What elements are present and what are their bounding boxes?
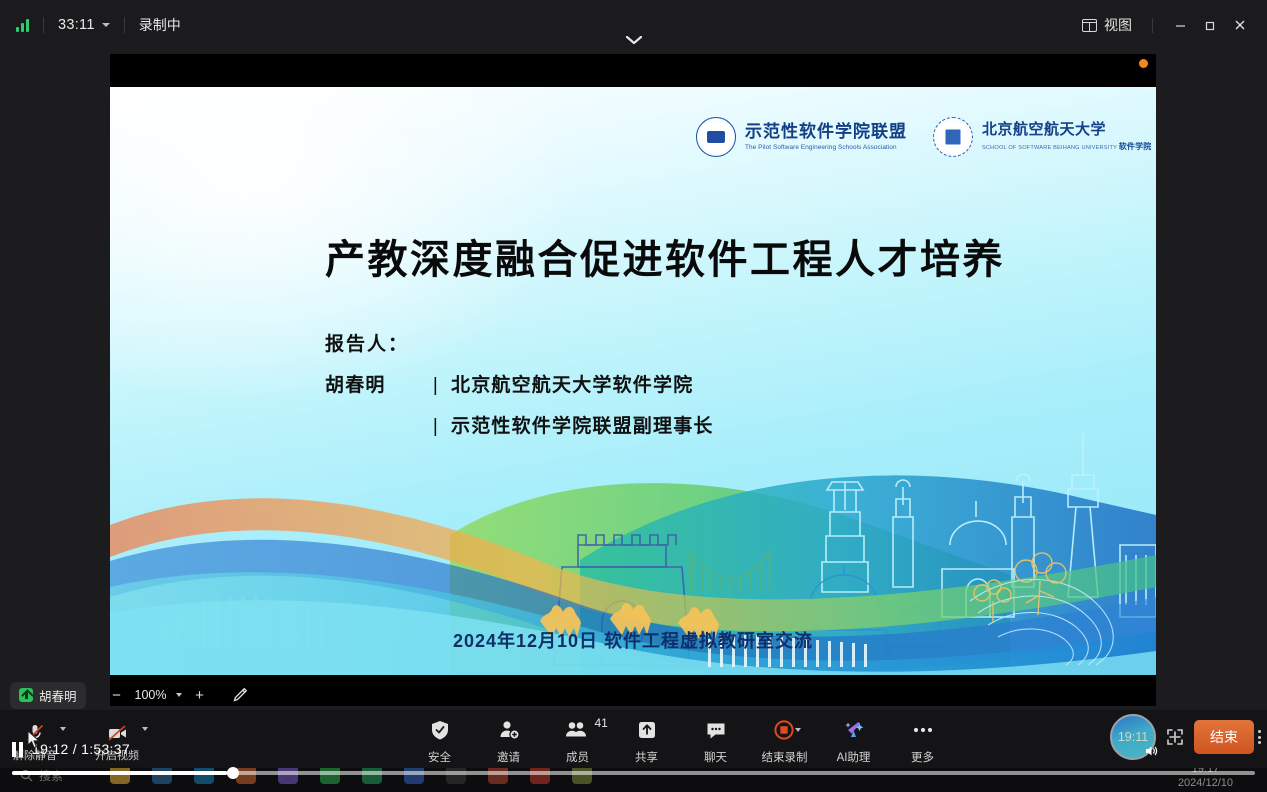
- chevron-down-icon[interactable]: [60, 727, 66, 731]
- player-time: 19:12 / 1:53:37: [32, 741, 130, 757]
- zoom-out-button[interactable]: −: [108, 686, 126, 704]
- university-name-en: SCHOOL OF SOFTWARE BEIHANG UNIVERSITY 软件…: [982, 141, 1152, 152]
- slide-footer: 2024年12月10日 软件工程虚拟教研室交流: [110, 627, 1156, 653]
- mouse-cursor: [27, 730, 41, 750]
- titlebar-right-group: 视图: [1074, 10, 1267, 40]
- divider: [124, 17, 125, 33]
- zoom-in-button[interactable]: +: [191, 686, 209, 704]
- recording-dot-icon: [1139, 59, 1148, 68]
- share-owner-name: 胡春明: [39, 686, 77, 705]
- screen-share-icon: [19, 688, 33, 702]
- presentation-slide: 示范性软件学院联盟 The Pilot Software Engineering…: [110, 87, 1156, 675]
- player-scrubber-handle[interactable]: [227, 767, 239, 779]
- university-school: 软件学院: [1119, 142, 1152, 151]
- view-button[interactable]: 视图: [1074, 11, 1140, 39]
- annotate-button[interactable]: [230, 685, 250, 705]
- player-scrubber[interactable]: [12, 771, 1255, 775]
- university-name: 北京航空航天大学: [982, 122, 1152, 139]
- divider: [43, 17, 44, 33]
- close-button[interactable]: [1225, 10, 1255, 40]
- grid-view-icon: [1082, 19, 1097, 32]
- player-progress-fill: [12, 771, 227, 775]
- chevron-down-icon: [625, 35, 643, 45]
- zoom-level: 100%: [135, 688, 167, 702]
- video-player-overlay: 19:12 / 1:53:37: [0, 735, 1267, 792]
- logo-university: 北京航空航天大学 SCHOOL OF SOFTWARE BEIHANG UNIV…: [933, 117, 1152, 157]
- logo-alliance: 示范性软件学院联盟 The Pilot Software Engineering…: [696, 117, 907, 157]
- share-owner-badge[interactable]: 胡春明: [10, 682, 86, 709]
- recording-status: 录制中: [139, 15, 181, 35]
- shared-screen-frame[interactable]: 示范性软件学院联盟 The Pilot Software Engineering…: [110, 54, 1156, 706]
- divider: [1152, 18, 1153, 33]
- member-count: 41: [595, 716, 608, 730]
- university-seal-icon: [933, 117, 973, 157]
- share-control-strip: 胡春明 − 100% +: [0, 680, 1267, 710]
- titlebar-left-group: 33:11 录制中: [0, 15, 181, 35]
- chevron-down-icon[interactable]: [176, 693, 182, 697]
- slide-logos: 示范性软件学院联盟 The Pilot Software Engineering…: [696, 117, 1152, 157]
- chevron-down-icon[interactable]: [142, 727, 148, 731]
- chevron-down-icon[interactable]: [795, 728, 801, 732]
- meeting-timer[interactable]: 33:11: [58, 16, 110, 34]
- signal-bars-icon: [16, 18, 29, 32]
- minimize-button[interactable]: [1165, 10, 1195, 40]
- zoom-controls: − 100% +: [108, 685, 250, 705]
- meeting-app-window: 33:11 录制中 视图: [0, 0, 1267, 792]
- maximize-button[interactable]: [1195, 10, 1225, 40]
- pencil-icon: [232, 687, 248, 703]
- view-label: 视图: [1104, 15, 1132, 35]
- alliance-seal-icon: [696, 117, 736, 157]
- alliance-name-en: The Pilot Software Engineering Schools A…: [745, 144, 907, 151]
- collapse-toolbar-button[interactable]: [620, 31, 648, 49]
- alliance-name: 示范性软件学院联盟: [745, 123, 907, 142]
- chevron-down-icon: [102, 23, 110, 27]
- presenter-label: 报告人：: [325, 329, 714, 356]
- slide-title: 产教深度融合促进软件工程人才培养: [325, 227, 1005, 285]
- pause-icon[interactable]: [12, 742, 23, 757]
- meeting-stage: 示范性软件学院联盟 The Pilot Software Engineering…: [0, 50, 1267, 710]
